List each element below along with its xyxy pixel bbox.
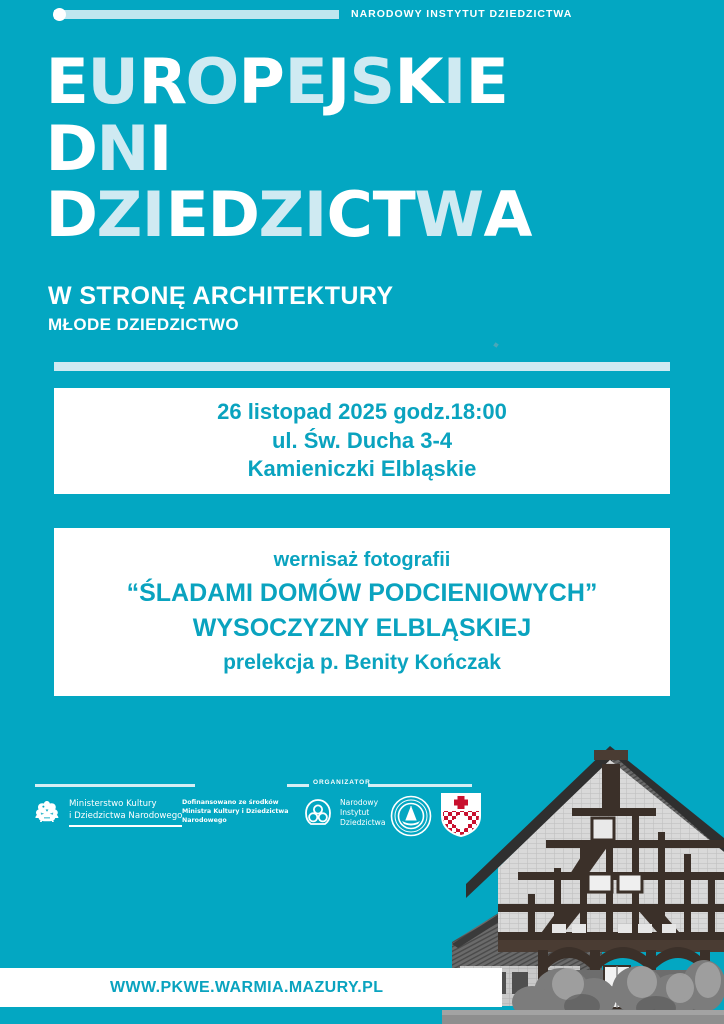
title-glyph: I — [142, 185, 166, 245]
nid-text: Narodowy Instytut Dziedzictwa — [340, 798, 386, 829]
title-glyph: N — [97, 119, 150, 179]
event-date: 26 listopad 2025 godz.18:00 — [217, 398, 507, 427]
title-glyph: I — [149, 119, 173, 179]
event-place: Kamieniczki Elbląskie — [248, 455, 477, 484]
funding-line-1: Dofinansowano ze środków — [182, 799, 289, 808]
title-glyph: E — [165, 185, 208, 245]
ministry-line-2: i Dziedzictwa Narodowego — [69, 811, 182, 822]
page-title: EUROPEJSKIE DNI DZIEDZICTWA — [46, 52, 666, 246]
funding-line-3: Narodowego — [182, 817, 289, 826]
title-glyph: Z — [97, 185, 143, 245]
website-url[interactable]: WWW.PKWE.WARMIA.MAZURY.PL — [110, 979, 383, 997]
footer-rule-right — [368, 784, 472, 787]
ministry-text: Ministerstwo Kultury i Dziedzictwa Narod… — [69, 799, 182, 826]
title-glyph: E — [465, 52, 508, 112]
title-glyph: O — [186, 52, 240, 112]
funding-line-2: Ministra Kultury i Dziedzictwa — [182, 808, 289, 817]
exhibition-kind: wernisaż fotografii — [274, 547, 451, 573]
header-bar-graphic — [54, 10, 339, 19]
exhibition-box: wernisaż fotografii “ŚLADAMI DOMÓW PODCI… — [54, 528, 670, 696]
title-glyph: D — [45, 119, 97, 179]
nid-logo-group: Narodowy Instytut Dziedzictwa — [302, 797, 386, 829]
funding-note: Dofinansowano ze środków Ministra Kultur… — [182, 799, 289, 826]
event-address: ul. Św. Ducha 3-4 — [272, 427, 452, 456]
ministry-underline — [69, 825, 182, 826]
museum-seal-logo — [390, 795, 432, 837]
title-glyph: K — [394, 52, 443, 112]
subtitle-line-1: W STRONĘ ARCHITEKTURY — [48, 282, 393, 310]
nid-line-1: Narodowy — [340, 798, 386, 808]
exhibition-speaker: prelekcja p. Benity Kończak — [223, 649, 501, 676]
title-glyph: U — [88, 52, 139, 112]
ministry-line-1: Ministerstwo Kultury — [69, 799, 182, 810]
title-glyph: I — [304, 185, 328, 245]
poster-canvas: NARODOWY INSTYTUT DZIEDZICTWA EUROPEJSKI… — [0, 0, 724, 1024]
title-glyph: I — [443, 52, 467, 112]
footer-rule-left — [35, 784, 195, 787]
exhibition-title-line-2: WYSOCZYZNY ELBLĄSKIEJ — [193, 612, 531, 645]
title-glyph: A — [483, 185, 532, 245]
exhibition-title-line-1: “ŚLADAMI DOMÓW PODCIENIOWYCH” — [127, 577, 598, 610]
title-line-3: DZIEDZICTWA — [46, 185, 666, 246]
title-glyph: T — [372, 185, 415, 245]
coat-of-arms-logo — [440, 792, 482, 838]
polish-eagle-icon — [32, 798, 62, 828]
nid-trefoil-icon — [302, 797, 334, 829]
ship-seal-icon — [390, 795, 432, 837]
subtitle: W STRONĘ ARCHITEKTURY MŁODE DZIEDZICTWO — [48, 282, 393, 335]
title-glyph: Z — [259, 185, 305, 245]
header-dot-icon — [53, 8, 66, 21]
nid-line-3: Dziedzictwa — [340, 818, 386, 828]
event-details-box: 26 listopad 2025 godz.18:00 ul. Św. Duch… — [54, 388, 670, 494]
organizator-label: ORGANIZATOR — [313, 779, 371, 786]
nid-line-2: Instytut — [340, 808, 386, 818]
section-divider — [54, 362, 670, 371]
title-glyph: J — [327, 52, 351, 112]
title-glyph: W — [415, 185, 485, 245]
title-glyph: D — [45, 185, 97, 245]
title-glyph: S — [350, 52, 396, 112]
title-glyph: C — [327, 185, 373, 245]
title-glyph: R — [138, 52, 187, 112]
header-bar — [54, 10, 339, 19]
title-line-1: EUROPEJSKIE — [46, 52, 666, 113]
header-institute-label: NARODOWY INSTYTUT DZIEDZICTWA — [351, 8, 572, 20]
title-glyph: P — [239, 52, 285, 112]
shield-icon — [440, 792, 482, 838]
ministry-logo-group: Ministerstwo Kultury i Dziedzictwa Narod… — [32, 798, 182, 828]
header: NARODOWY INSTYTUT DZIEDZICTWA — [0, 8, 724, 20]
subtitle-line-2: MŁODE DZIEDZICTWO — [48, 315, 393, 335]
title-glyph: E — [46, 52, 89, 112]
title-glyph: D — [207, 185, 259, 245]
footer-rule-mid — [287, 784, 309, 787]
url-bar: WWW.PKWE.WARMIA.MAZURY.PL — [0, 968, 502, 1007]
title-glyph: E — [284, 52, 327, 112]
title-line-2: DNI — [46, 119, 666, 180]
decorative-speck — [493, 342, 499, 348]
